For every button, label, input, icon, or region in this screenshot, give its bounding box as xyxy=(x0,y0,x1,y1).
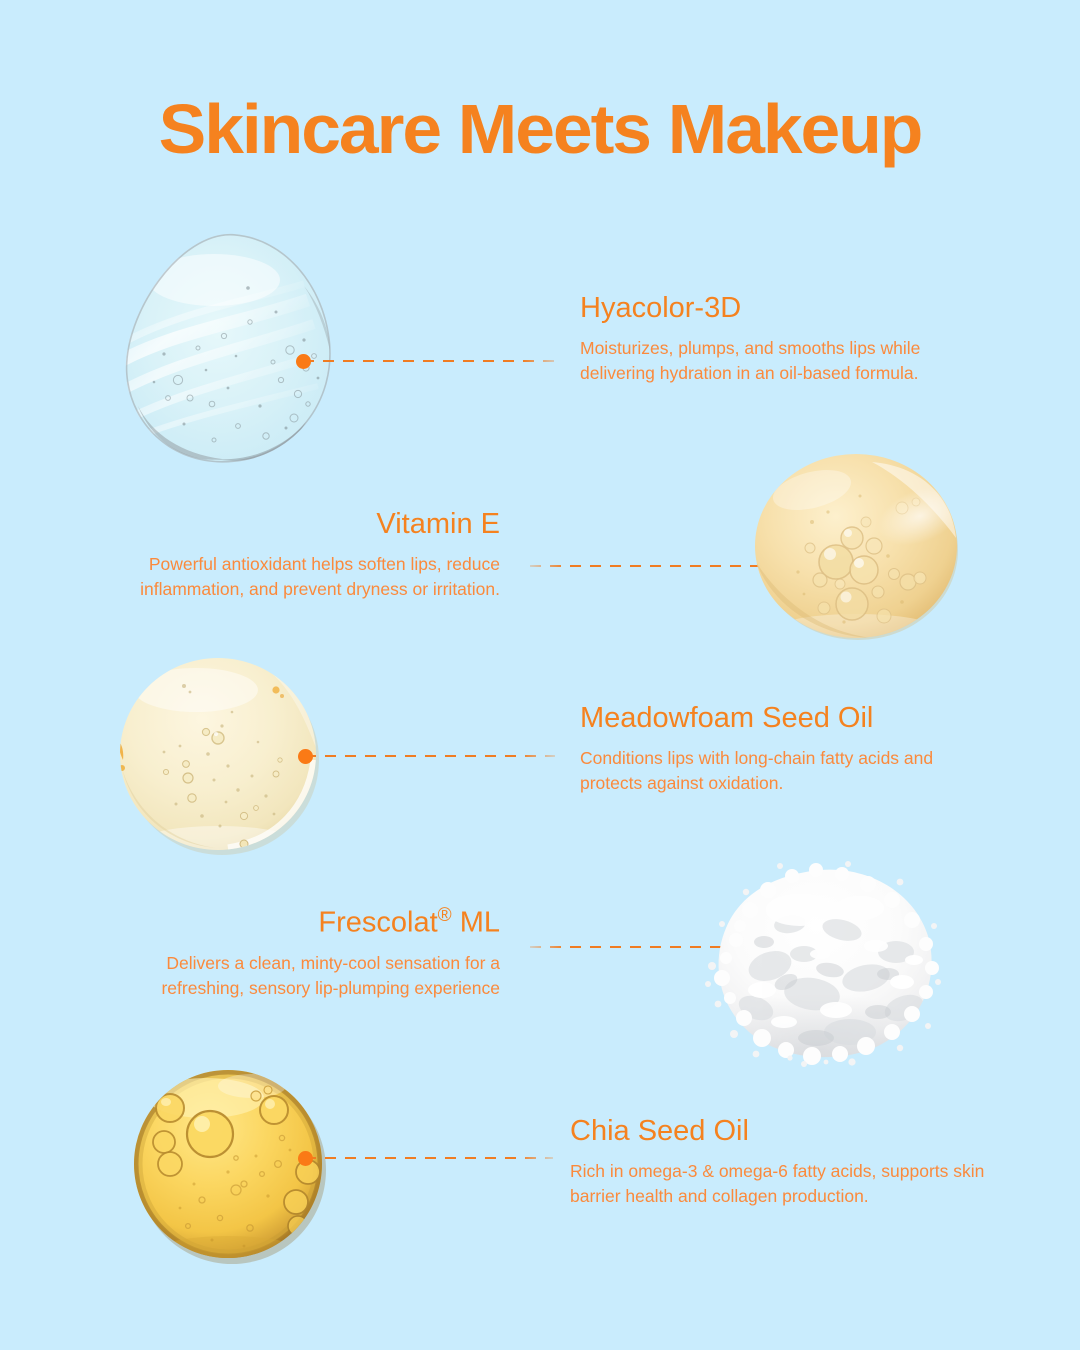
ingredient-description: Delivers a clean, minty-cool sensation f… xyxy=(110,951,500,1001)
ingredient-description: Rich in omega-3 & omega-6 fatty acids, s… xyxy=(570,1159,990,1209)
page-title: Skincare Meets Makeup xyxy=(0,94,1080,164)
registered-trademark-icon: ® xyxy=(438,905,452,926)
ingredient-name-base: Frescolat xyxy=(318,907,437,939)
connector-dot xyxy=(298,1151,313,1166)
ingredient-description: Moisturizes, plumps, and smooths lips wh… xyxy=(580,336,1000,386)
ingredient-name-suffix: ML xyxy=(452,907,500,939)
ingredient-block-vitamin-e: Vitamin E Powerful antioxidant helps sof… xyxy=(130,508,500,602)
ingredient-name: Meadowfoam Seed Oil xyxy=(580,702,1000,735)
ingredient-block-chia-seed-oil: Chia Seed Oil Rich in omega-3 & omega-6 … xyxy=(570,1115,990,1209)
ingredient-name: Frescolat® ML xyxy=(110,905,500,940)
pale-gold-oil-droplet-swatch xyxy=(752,452,960,640)
ingredient-name: Hyacolor-3D xyxy=(580,292,1000,325)
ingredient-name: Vitamin E xyxy=(130,508,500,541)
connector-dot xyxy=(298,749,313,764)
connector-line-chia xyxy=(305,1157,553,1159)
white-powder-mound-swatch xyxy=(700,862,940,1062)
ingredient-description: Powerful antioxidant helps soften lips, … xyxy=(130,552,500,602)
ingredient-block-meadowfoam-seed-oil: Meadowfoam Seed Oil Conditions lips with… xyxy=(580,702,1000,796)
connector-dot xyxy=(296,354,311,369)
clear-gel-smear-swatch xyxy=(118,228,344,468)
ingredient-block-frescolat-ml: Frescolat® ML Delivers a clean, minty-co… xyxy=(110,905,500,1001)
dashed-line xyxy=(305,755,555,757)
golden-oil-droplet-swatch xyxy=(132,1068,330,1268)
dashed-line xyxy=(303,360,558,362)
connector-line-meadowfoam xyxy=(305,755,555,757)
infographic-canvas: Skincare Meets Makeup xyxy=(0,0,1080,1350)
ingredient-description: Conditions lips with long-chain fatty ac… xyxy=(580,746,1000,796)
dashed-line xyxy=(305,1157,553,1159)
ingredient-block-hyacolor-3d: Hyacolor-3D Moisturizes, plumps, and smo… xyxy=(580,292,1000,386)
dashed-line xyxy=(530,565,782,567)
connector-line-hyacolor xyxy=(303,360,558,362)
ingredient-name: Chia Seed Oil xyxy=(570,1115,990,1148)
cream-oil-droplet-swatch xyxy=(118,656,324,864)
connector-line-vitamin-e xyxy=(530,565,782,567)
